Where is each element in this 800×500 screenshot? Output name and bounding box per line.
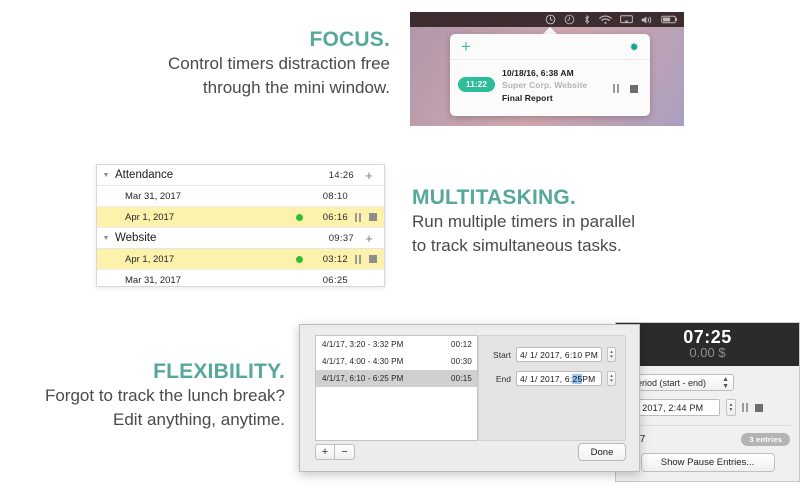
mini-timer-window[interactable]: + 11:22 10/18/16, 6:38 AM Super Corp. We…	[450, 34, 650, 116]
table-row[interactable]: Apr 1, 2017 03:12	[97, 249, 384, 270]
group-name: Attendance	[115, 169, 302, 181]
timer-readout: 07:25 0.00 $	[616, 323, 799, 366]
mini-window-toolbar: +	[450, 34, 650, 60]
flexibility-headline: FLEXIBILITY.	[2, 360, 285, 384]
show-pause-entries-button[interactable]: Show Pause Entries...	[641, 453, 775, 472]
pause-entries-sheet: 4/1/17, 3:20 - 3:32 PM 00:12 4/1/17, 4:0…	[299, 324, 640, 472]
entry-duration: 03:12	[310, 254, 348, 265]
running-indicator	[288, 256, 310, 263]
triangle-down-icon[interactable]: ▼	[97, 172, 115, 179]
end-field-row: End 4/ 1/ 2017, 6:25 PM ▲▼	[479, 371, 625, 386]
promo-page: FOCUS. Control timers distraction free t…	[0, 0, 800, 500]
multitasking-subline-2: to track simultaneous tasks.	[412, 234, 712, 257]
wifi-icon[interactable]	[599, 15, 612, 25]
history-clock-icon[interactable]	[564, 14, 575, 25]
elapsed-time: 07:25	[683, 328, 732, 347]
chevron-updown-icon: ▲▼	[722, 376, 729, 390]
entry-editor-screenshot: 07:25 0.00 $ Period (start - end) ▲▼ 4/ …	[299, 322, 800, 500]
running-indicator	[288, 214, 310, 221]
gear-icon[interactable]	[628, 41, 639, 52]
end-value-suffix: PM	[582, 374, 595, 384]
end-label: End	[485, 374, 511, 384]
group-total-time: 09:37	[302, 233, 354, 244]
start-stepper[interactable]: ▲▼	[607, 347, 616, 362]
table-row[interactable]: Mar 31, 2017 08:10	[97, 186, 384, 207]
triangle-down-icon[interactable]: ▼	[97, 235, 115, 242]
flexibility-copy-block: FLEXIBILITY. Forgot to track the lunch b…	[2, 360, 285, 431]
focus-subline-1: Control timers distraction free	[60, 52, 390, 75]
stop-icon[interactable]	[630, 85, 638, 93]
start-datetime-input[interactable]: 4/ 1/ 2017, 6:10 PM	[516, 347, 602, 362]
add-entry-icon[interactable]: +	[354, 168, 384, 183]
mini-timer-entry[interactable]: 11:22 10/18/16, 6:38 AM Super Corp. Webs…	[450, 60, 650, 116]
flexibility-subline-2: Edit anything, anytime.	[2, 408, 285, 431]
done-button[interactable]: Done	[578, 443, 626, 461]
entry-duration: 06:16	[310, 212, 348, 223]
period-mode-value: Period (start - end)	[631, 378, 706, 388]
pause-icon[interactable]	[613, 84, 620, 93]
entry-label: 4/1/17, 6:10 - 6:25 PM	[322, 374, 451, 383]
timer-badge: 11:22	[458, 77, 495, 92]
entry-task: Final Report	[502, 93, 640, 103]
pause-summary-row: 0:57 3 entries	[616, 426, 799, 446]
entry-label: 4/1/17, 3:20 - 3:32 PM	[322, 340, 451, 349]
pause-icon[interactable]	[355, 255, 362, 264]
list-add-remove-buttons: + −	[315, 444, 355, 460]
focus-subline-2: through the mini window.	[60, 76, 390, 99]
project-list-window[interactable]: ▼ Attendance 14:26 + Mar 31, 2017 08:10 …	[96, 164, 385, 287]
period-mode-select[interactable]: Period (start - end) ▲▼	[626, 374, 734, 391]
entry-edit-fields: Start 4/ 1/ 2017, 6:10 PM ▲▼ End 4/ 1/ 2…	[478, 335, 626, 441]
earned-amount: 0.00 $	[689, 346, 725, 361]
list-item[interactable]: 4/1/17, 3:20 - 3:32 PM 00:12	[316, 336, 477, 353]
macos-menubar	[410, 12, 684, 27]
entry-controls	[613, 84, 638, 93]
entry-duration: 00:30	[451, 357, 472, 366]
group-header-row[interactable]: ▼ Attendance 14:26 +	[97, 165, 384, 186]
pause-entry-list[interactable]: 4/1/17, 3:20 - 3:32 PM 00:12 4/1/17, 4:0…	[315, 335, 478, 441]
multitasking-subline-1: Run multiple timers in parallel	[412, 210, 712, 233]
clock-icon[interactable]	[545, 14, 556, 25]
add-entry-button[interactable]: +	[315, 444, 335, 460]
timer-panel-body: Period (start - end) ▲▼ 4/ 1/ 2017, 2:44…	[616, 366, 799, 472]
entry-label: 4/1/17, 4:00 - 4:30 PM	[322, 357, 451, 366]
start-field-row: Start 4/ 1/ 2017, 6:10 PM ▲▼	[479, 347, 625, 362]
entry-datetime: 10/18/16, 6:38 AM	[502, 68, 640, 78]
stop-icon[interactable]	[755, 404, 763, 412]
status-badge: 3 entries	[741, 433, 790, 446]
start-label: Start	[485, 350, 511, 360]
focus-copy-block: FOCUS. Control timers distraction free t…	[60, 28, 390, 99]
timer-date-row: 4/ 1/ 2017, 2:44 PM ▲▼	[615, 399, 799, 416]
airplay-icon[interactable]	[620, 15, 633, 25]
group-name: Website	[115, 232, 302, 244]
group-total-time: 14:26	[302, 170, 354, 181]
add-entry-icon[interactable]: +	[354, 231, 384, 246]
group-header-row[interactable]: ▼ Website 09:37 +	[97, 228, 384, 249]
timer-detail-panel: 07:25 0.00 $ Period (start - end) ▲▼ 4/ …	[615, 322, 800, 482]
end-stepper[interactable]: ▲▼	[607, 371, 616, 386]
focus-headline: FOCUS.	[60, 28, 390, 52]
flexibility-subline-1: Forgot to track the lunch break?	[2, 384, 285, 407]
entry-duration: 00:15	[451, 374, 472, 383]
entry-controls	[348, 255, 384, 264]
multitasking-copy-block: MULTITASKING. Run multiple timers in par…	[412, 186, 712, 257]
entry-controls	[348, 213, 384, 222]
multitasking-headline: MULTITASKING.	[412, 186, 712, 210]
table-row[interactable]: Apr 1, 2017 06:16	[97, 207, 384, 228]
table-row[interactable]: Mar 31, 2017 06:25	[97, 270, 384, 287]
list-item[interactable]: 4/1/17, 6:10 - 6:25 PM 00:15	[316, 370, 477, 387]
entry-date: Mar 31, 2017	[97, 191, 288, 202]
mini-window-screenshot: + 11:22 10/18/16, 6:38 AM Super Corp. We…	[410, 12, 684, 126]
date-stepper[interactable]: ▲▼	[726, 399, 736, 416]
entry-date: Apr 1, 2017	[97, 254, 288, 265]
bluetooth-icon[interactable]	[583, 14, 591, 25]
pause-icon[interactable]	[742, 403, 749, 412]
battery-icon[interactable]	[661, 15, 678, 24]
list-item[interactable]: 4/1/17, 4:00 - 4:30 PM 00:30	[316, 353, 477, 370]
end-datetime-input[interactable]: 4/ 1/ 2017, 6:25 PM	[516, 371, 602, 386]
entry-duration: 00:12	[451, 340, 472, 349]
end-value-prefix: 4/ 1/ 2017, 6:	[520, 374, 572, 384]
stop-icon[interactable]	[369, 255, 377, 263]
entry-duration: 06:25	[310, 275, 348, 286]
entry-date: Apr 1, 2017	[97, 212, 288, 223]
stop-icon[interactable]	[369, 213, 377, 221]
end-value-selected-minutes[interactable]: 25	[572, 374, 582, 384]
volume-icon[interactable]	[641, 15, 653, 25]
entry-date: Mar 31, 2017	[97, 275, 288, 286]
remove-entry-button[interactable]: −	[335, 444, 355, 460]
pause-icon[interactable]	[355, 213, 362, 222]
add-timer-icon[interactable]: +	[461, 38, 471, 55]
entry-duration: 08:10	[310, 191, 348, 202]
